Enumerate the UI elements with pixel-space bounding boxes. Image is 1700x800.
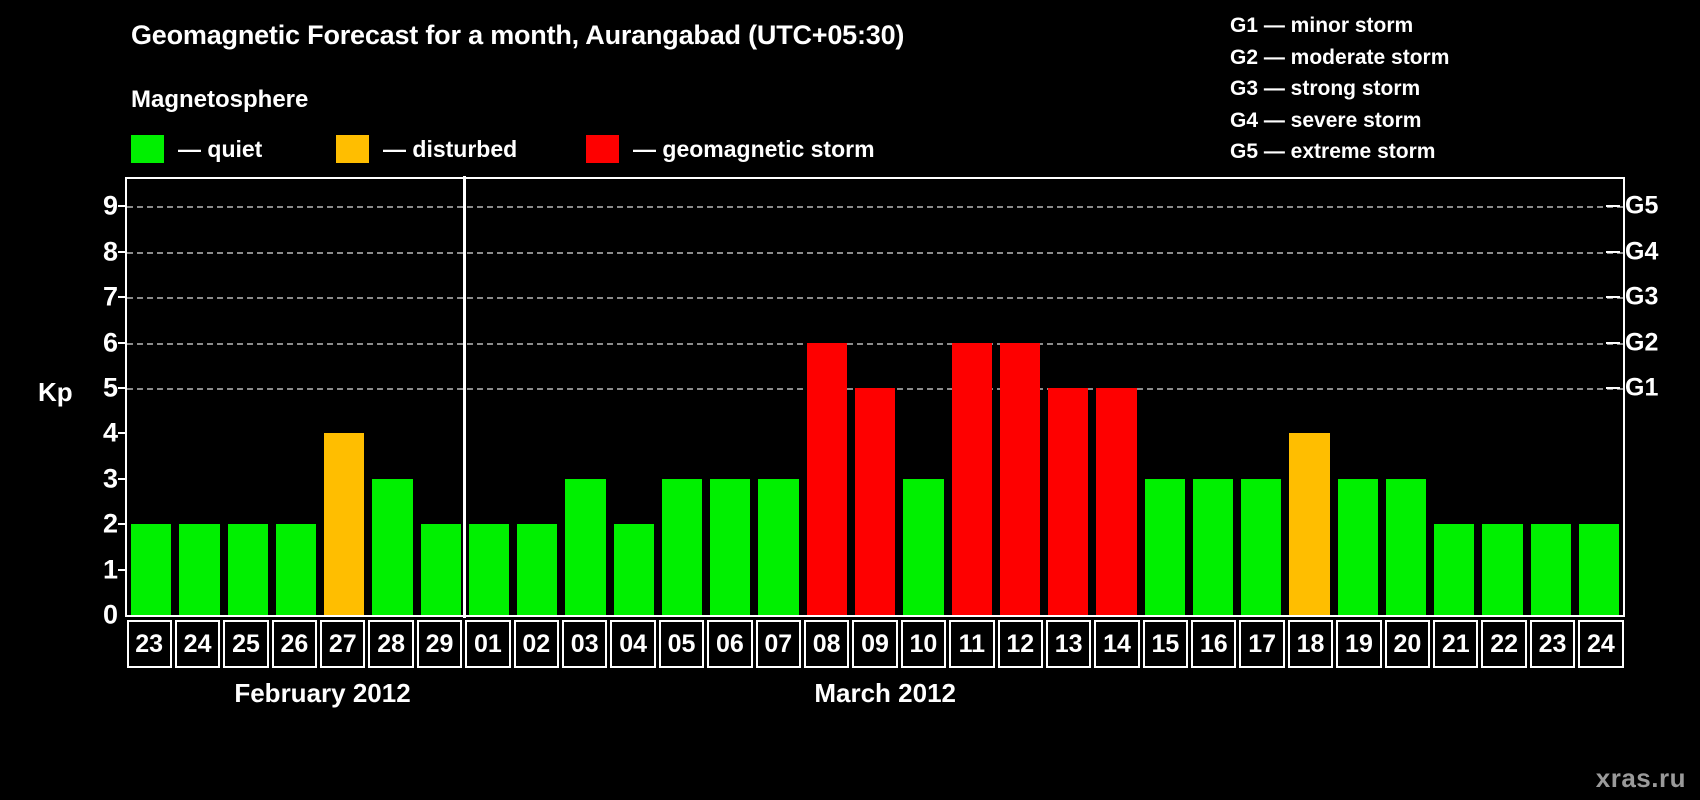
g-scale-row-3: G3 — strong storm bbox=[1230, 73, 1449, 105]
day-label-25[interactable]: 19 bbox=[1336, 620, 1381, 668]
day-label-12[interactable]: 06 bbox=[707, 620, 752, 668]
g-tick-G3: G3 bbox=[1625, 283, 1658, 312]
g-scale-row-2: G2 — moderate storm bbox=[1230, 42, 1449, 74]
day-label-16[interactable]: 10 bbox=[901, 620, 946, 668]
g-tick-mark-G3 bbox=[1606, 296, 1620, 298]
g-scale-row-5: G5 — extreme storm bbox=[1230, 136, 1449, 168]
g-axis-tick-marks bbox=[0, 177, 1700, 617]
legend-label: — disturbed bbox=[383, 136, 517, 163]
g-tick-mark-G5 bbox=[1606, 205, 1620, 207]
day-label-13[interactable]: 07 bbox=[756, 620, 801, 668]
day-label-24[interactable]: 18 bbox=[1288, 620, 1333, 668]
g-scale-legend: G1 — minor stormG2 — moderate stormG3 — … bbox=[1230, 10, 1449, 168]
g-tick-mark-G2 bbox=[1606, 342, 1620, 344]
day-label-19[interactable]: 13 bbox=[1046, 620, 1091, 668]
day-label-23[interactable]: 17 bbox=[1239, 620, 1284, 668]
g-scale-row-4: G4 — severe storm bbox=[1230, 105, 1449, 137]
quiet-swatch bbox=[131, 135, 164, 163]
legend-label: — quiet bbox=[178, 136, 262, 163]
day-label-11[interactable]: 05 bbox=[659, 620, 704, 668]
g-tick-G4: G4 bbox=[1625, 237, 1658, 266]
g-tick-mark-G4 bbox=[1606, 251, 1620, 253]
g-tick-G1: G1 bbox=[1625, 373, 1658, 402]
day-label-3[interactable]: 26 bbox=[272, 620, 317, 668]
day-label-15[interactable]: 09 bbox=[852, 620, 897, 668]
disturbed-swatch bbox=[336, 135, 369, 163]
legend-heading: Magnetosphere bbox=[131, 86, 308, 114]
page-title: Geomagnetic Forecast for a month, Aurang… bbox=[131, 20, 904, 51]
day-label-27[interactable]: 21 bbox=[1433, 620, 1478, 668]
month-caption-0: February 2012 bbox=[234, 678, 410, 709]
day-label-strip: 2324252627282901020304050607080910111213… bbox=[125, 620, 1625, 668]
day-label-10[interactable]: 04 bbox=[610, 620, 655, 668]
day-label-30[interactable]: 24 bbox=[1578, 620, 1623, 668]
day-label-8[interactable]: 02 bbox=[514, 620, 559, 668]
day-label-28[interactable]: 22 bbox=[1481, 620, 1526, 668]
legend-item-disturbed: — disturbed bbox=[336, 133, 517, 165]
storm-swatch bbox=[586, 135, 619, 163]
day-label-21[interactable]: 15 bbox=[1143, 620, 1188, 668]
g-tick-G2: G2 bbox=[1625, 328, 1658, 357]
day-label-22[interactable]: 16 bbox=[1191, 620, 1236, 668]
g-axis-tick-labels: G1G2G3G4G5 bbox=[1625, 177, 1695, 617]
month-caption-1: March 2012 bbox=[814, 678, 956, 709]
legend-item-quiet: — quiet bbox=[131, 133, 262, 165]
day-label-5[interactable]: 28 bbox=[368, 620, 413, 668]
day-label-20[interactable]: 14 bbox=[1094, 620, 1139, 668]
day-label-14[interactable]: 08 bbox=[804, 620, 849, 668]
g-tick-G5: G5 bbox=[1625, 192, 1658, 221]
day-label-26[interactable]: 20 bbox=[1385, 620, 1430, 668]
day-label-6[interactable]: 29 bbox=[417, 620, 462, 668]
day-label-7[interactable]: 01 bbox=[465, 620, 510, 668]
watermark: xras.ru bbox=[1596, 763, 1686, 794]
chart-canvas: Geomagnetic Forecast for a month, Aurang… bbox=[0, 0, 1700, 800]
day-label-2[interactable]: 25 bbox=[223, 620, 268, 668]
legend-label: — geomagnetic storm bbox=[633, 136, 875, 163]
g-scale-row-1: G1 — minor storm bbox=[1230, 10, 1449, 42]
day-label-29[interactable]: 23 bbox=[1530, 620, 1575, 668]
day-label-0[interactable]: 23 bbox=[127, 620, 172, 668]
day-label-4[interactable]: 27 bbox=[320, 620, 365, 668]
day-label-1[interactable]: 24 bbox=[175, 620, 220, 668]
day-label-18[interactable]: 12 bbox=[998, 620, 1043, 668]
legend-item-storm: — geomagnetic storm bbox=[586, 133, 875, 165]
day-label-9[interactable]: 03 bbox=[562, 620, 607, 668]
day-label-17[interactable]: 11 bbox=[949, 620, 994, 668]
g-tick-mark-G1 bbox=[1606, 387, 1620, 389]
